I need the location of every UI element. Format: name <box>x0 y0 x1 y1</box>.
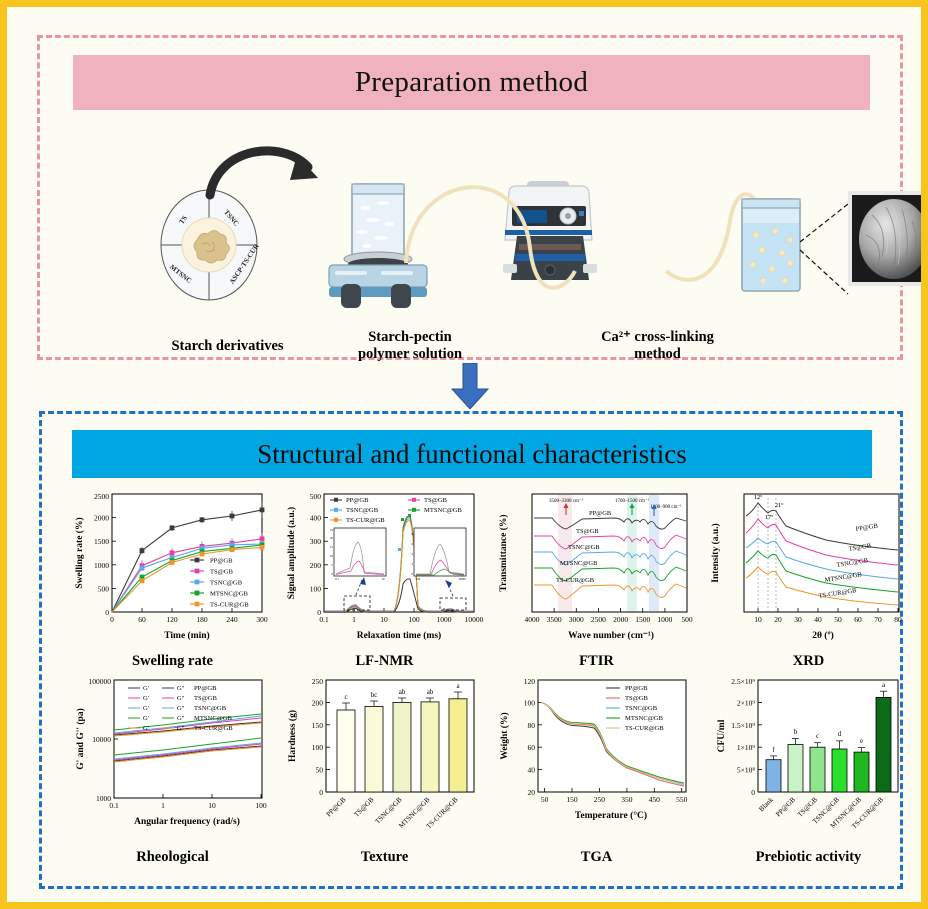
svg-text:MTSNC@GB: MTSNC@GB <box>625 715 664 722</box>
svg-text:PP@GB: PP@GB <box>589 510 612 517</box>
chart-lf-nmr: 0100200 300400500 0.1110 100100010000 Re… <box>282 488 487 668</box>
characteristics-section: Structural and functional characteristic… <box>39 411 903 889</box>
chart-title-tga: TGA <box>494 849 699 866</box>
svg-text:180: 180 <box>196 615 208 624</box>
svg-text:Intensity (a.u.): Intensity (a.u.) <box>710 523 721 582</box>
svg-text:80: 80 <box>528 721 536 730</box>
svg-text:G'': G'' <box>177 685 184 692</box>
svg-text:15: 15 <box>330 545 334 549</box>
svg-text:TS@GB: TS@GB <box>210 569 234 576</box>
svg-text:150: 150 <box>566 795 578 804</box>
svg-text:MTSNC@GB: MTSNC@GB <box>560 560 598 567</box>
chart-title-rheological: Rheological <box>70 849 275 866</box>
svg-text:1: 1 <box>161 801 165 810</box>
prebiotic-ytick-5: 2.5×10⁹ <box>731 677 755 686</box>
svg-text:0: 0 <box>110 615 114 624</box>
svg-text:70: 70 <box>874 615 882 624</box>
svg-text:3500: 3500 <box>547 615 562 624</box>
prebiotic-sig-4: d <box>838 730 842 738</box>
svg-text:Temperature (°C): Temperature (°C) <box>575 810 647 821</box>
svg-text:500: 500 <box>681 615 693 624</box>
svg-text:240: 240 <box>226 615 238 624</box>
svg-text:Transmittance (%): Transmittance (%) <box>498 514 509 591</box>
svg-text:10000: 10000 <box>465 615 484 624</box>
xrd-peak-label-21: 21º <box>775 502 784 509</box>
svg-text:2000: 2000 <box>94 514 109 523</box>
svg-text:MTSNC@GB: MTSNC@GB <box>194 715 233 722</box>
svg-text:100: 100 <box>408 615 420 624</box>
svg-text:G': G' <box>143 705 149 712</box>
svg-text:300: 300 <box>256 615 268 624</box>
svg-text:250: 250 <box>594 795 606 804</box>
svg-text:Angular frequency (rad/s): Angular frequency (rad/s) <box>134 816 240 827</box>
svg-text:500: 500 <box>310 492 322 501</box>
svg-text:50: 50 <box>316 766 324 775</box>
svg-text:0.1: 0.1 <box>335 577 339 581</box>
svg-text:1000: 1000 <box>94 561 109 570</box>
svg-text:25: 25 <box>330 528 334 532</box>
prebiotic-ytick-4: 2×10⁹ <box>737 698 755 707</box>
svg-text:0: 0 <box>105 608 109 617</box>
svg-text:200: 200 <box>310 561 322 570</box>
texture-sig-2: bc <box>371 691 378 699</box>
svg-text:300: 300 <box>310 537 322 546</box>
svg-text:100: 100 <box>312 743 324 752</box>
texture-sig-4: ab <box>427 688 434 696</box>
characteristics-banner-title: Structural and functional characteristic… <box>257 439 687 470</box>
caption-starch-derivatives: Starch derivatives <box>155 338 300 355</box>
prebiotic-cat-1: Blank <box>757 795 775 813</box>
svg-text:1500: 1500 <box>635 615 650 624</box>
chart-prebiotic-activity: 0 5×10⁸ 1×10⁹ 1.5×10⁹ 2×10⁹ 2.5×10⁹ CFU/… <box>706 674 911 864</box>
svg-text:2000: 2000 <box>613 615 628 624</box>
svg-text:PP@GB: PP@GB <box>346 497 369 504</box>
svg-text:100000: 100000 <box>89 677 112 686</box>
xrd-peak-label-12: 12º <box>754 494 763 501</box>
svg-text:TSNC@GB: TSNC@GB <box>625 705 658 712</box>
chart-ftir: 400035003000 250020001500 1000500 Wave n… <box>494 488 699 668</box>
texture-sig-3: ab <box>399 688 406 696</box>
svg-text:G': G' <box>143 725 149 732</box>
svg-text:100: 100 <box>310 584 322 593</box>
svg-text:100: 100 <box>255 801 267 810</box>
svg-text:10: 10 <box>382 577 386 581</box>
svg-text:10: 10 <box>380 615 388 624</box>
svg-text:1500: 1500 <box>94 537 109 546</box>
svg-text:100: 100 <box>416 577 421 581</box>
sem-micrograph-image <box>848 191 928 286</box>
svg-text:G' and G'' (pa): G' and G'' (pa) <box>75 708 86 770</box>
prebiotic-sig-2: b <box>794 728 798 736</box>
svg-text:120: 120 <box>166 615 178 624</box>
svg-text:Hardness (g): Hardness (g) <box>287 710 298 762</box>
svg-text:G'': G'' <box>177 715 184 722</box>
svg-text:1000: 1000 <box>437 615 452 624</box>
svg-text:TS-CUR@GB: TS-CUR@GB <box>625 725 664 732</box>
prebiotic-ytick-0: 0 <box>751 788 755 797</box>
svg-text:G'': G'' <box>177 725 184 732</box>
svg-text:1: 1 <box>352 615 356 624</box>
texture-sig-1: c <box>344 693 347 701</box>
chart-title-swelling-rate: Swelling rate <box>70 653 275 670</box>
chart-title-prebiotic-activity: Prebiotic activity <box>706 849 911 866</box>
texture-cat-2: TS@GB <box>353 796 376 819</box>
svg-text:TS@GB: TS@GB <box>424 497 448 504</box>
prebiotic-sig-5: e <box>860 737 863 745</box>
svg-text:30: 30 <box>794 615 802 624</box>
ftir-annotation-1: 3500–3300 cm⁻¹ <box>549 498 583 504</box>
svg-text:400: 400 <box>310 514 322 523</box>
svg-text:40: 40 <box>814 615 822 624</box>
svg-text:10: 10 <box>754 615 762 624</box>
svg-text:550: 550 <box>676 795 688 804</box>
svg-text:100: 100 <box>524 698 536 707</box>
svg-text:0: 0 <box>319 788 323 797</box>
svg-text:10: 10 <box>330 554 334 558</box>
xrd-peak-label-17: 17º <box>765 514 774 521</box>
chart-tga: 204060 80100120 50150250 350450550 Tempe… <box>494 674 699 864</box>
chart-title-texture: Texture <box>282 849 487 866</box>
svg-text:20: 20 <box>774 615 782 624</box>
svg-text:500: 500 <box>98 584 110 593</box>
svg-text:3000: 3000 <box>569 615 584 624</box>
svg-text:120: 120 <box>524 677 536 686</box>
svg-text:50: 50 <box>541 795 549 804</box>
chart-title-lf-nmr: LF-NMR <box>282 653 487 670</box>
svg-text:Weight (%): Weight (%) <box>499 712 510 759</box>
svg-text:2500: 2500 <box>94 492 109 501</box>
svg-text:50: 50 <box>834 615 842 624</box>
svg-text:0.1: 0.1 <box>109 801 119 810</box>
svg-text:MTSNC@GB: MTSNC@GB <box>210 591 249 598</box>
svg-text:Signal amplitude (a.u.): Signal amplitude (a.u.) <box>286 507 297 599</box>
svg-text:TS@GB: TS@GB <box>576 528 599 535</box>
svg-text:G'': G'' <box>177 695 184 702</box>
svg-text:60: 60 <box>854 615 862 624</box>
svg-text:0.1: 0.1 <box>319 615 329 624</box>
preparation-banner-title: Preparation method <box>355 66 588 99</box>
texture-cat-1: PP@GB <box>325 796 348 819</box>
svg-text:TSNC@GB: TSNC@GB <box>210 580 243 587</box>
svg-text:450: 450 <box>649 795 661 804</box>
svg-text:10: 10 <box>208 801 216 810</box>
chart-texture: 050100 150200250 Hardness (g) <box>282 674 487 864</box>
chart-xrd: 102030 405060 7080 2θ (º) Intensity (a.u… <box>706 488 911 668</box>
svg-text:1000: 1000 <box>657 615 672 624</box>
svg-text:40: 40 <box>528 766 536 775</box>
svg-text:60: 60 <box>138 615 146 624</box>
svg-text:350: 350 <box>621 795 633 804</box>
svg-text:TS-CUR@GB: TS-CUR@GB <box>556 577 595 584</box>
svg-text:G'': G'' <box>177 705 184 712</box>
section-connector-arrow-icon <box>450 363 490 409</box>
starch-derivatives-wheel <box>150 186 268 304</box>
svg-text:Swelling rate (%): Swelling rate (%) <box>74 517 85 588</box>
svg-text:Time (min): Time (min) <box>164 630 209 641</box>
svg-text:80: 80 <box>894 615 902 624</box>
chart-title-xrd: XRD <box>706 653 911 670</box>
svg-text:TSNC@GB: TSNC@GB <box>346 507 379 514</box>
svg-text:2500: 2500 <box>591 615 606 624</box>
prebiotic-cat-2: PP@GB <box>774 796 797 819</box>
characteristics-banner: Structural and functional characteristic… <box>72 430 872 478</box>
svg-text:TS@GB: TS@GB <box>194 695 218 702</box>
process-arrow-icon <box>200 133 330 203</box>
prebiotic-sig-3: c <box>816 732 819 740</box>
caption-crosslinking-method: Ca²⁺ cross-linking method <box>570 329 745 364</box>
chart-title-ftir: FTIR <box>494 653 699 670</box>
svg-text:Wave number (cm⁻¹): Wave number (cm⁻¹) <box>568 630 654 641</box>
svg-text:2θ (º): 2θ (º) <box>812 630 834 641</box>
prebiotic-ytick-3: 1.5×10⁹ <box>731 721 755 730</box>
svg-text:10000: 10000 <box>458 577 466 581</box>
svg-text:20: 20 <box>528 788 536 797</box>
svg-text:200: 200 <box>312 698 324 707</box>
svg-text:250: 250 <box>312 677 324 686</box>
svg-text:Relaxation time (ms): Relaxation time (ms) <box>357 630 441 641</box>
svg-text:150: 150 <box>312 721 324 730</box>
svg-text:60: 60 <box>528 743 536 752</box>
svg-text:MTSNC@GB: MTSNC@GB <box>424 507 463 514</box>
svg-text:TS-CUR@GB: TS-CUR@GB <box>194 725 233 732</box>
svg-text:PP@GB: PP@GB <box>194 685 217 692</box>
svg-text:TS-CUR@GB: TS-CUR@GB <box>210 602 249 609</box>
svg-text:TSNC@GB: TSNC@GB <box>194 705 227 712</box>
ftir-annotation-2: 1700–1500 cm⁻¹ <box>615 498 649 504</box>
preparation-banner: Preparation method <box>73 55 870 110</box>
svg-text:CFU/ml: CFU/ml <box>717 719 727 752</box>
svg-text:G': G' <box>143 685 149 692</box>
svg-text:G': G' <box>143 715 149 722</box>
graphical-abstract-page: Preparation method TS TSNC MTSNC ASCP-TS… <box>0 0 928 909</box>
svg-text:TS@GB: TS@GB <box>625 695 649 702</box>
svg-text:4000: 4000 <box>525 615 540 624</box>
svg-text:20: 20 <box>330 536 334 540</box>
svg-text:PP@GB: PP@GB <box>625 685 648 692</box>
prebiotic-ytick-1: 5×10⁸ <box>737 766 755 775</box>
svg-text:TS-CUR@GB: TS-CUR@GB <box>346 517 385 524</box>
prebiotic-ytick-2: 1×10⁹ <box>737 743 755 752</box>
svg-text:TSNC@GB: TSNC@GB <box>568 544 600 551</box>
svg-text:PP@GB: PP@GB <box>210 558 233 565</box>
svg-text:G': G' <box>143 695 149 702</box>
caption-starch-pectin-solution: Starch-pectin polymer solution <box>330 329 490 364</box>
chart-swelling-rate: 05001000 150020002500 060120 180240300 T… <box>70 488 275 668</box>
pump-tubing <box>370 163 790 303</box>
svg-text:10000: 10000 <box>92 735 111 744</box>
chart-rheological: 100010000100000 0.1110100 Angular freque… <box>70 674 275 864</box>
preparation-section: Preparation method TS TSNC MTSNC ASCP-TS… <box>37 35 903 360</box>
